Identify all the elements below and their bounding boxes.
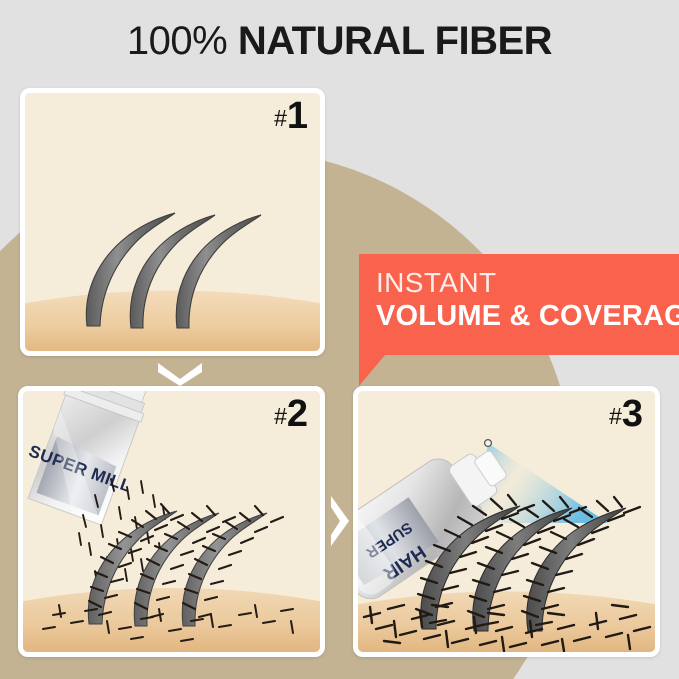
promo-banner-line-2: VOLUME & COVERAGE	[376, 299, 679, 333]
chevron-right-icon	[326, 492, 354, 550]
step-2-digit: 2	[287, 393, 308, 435]
step-2-hash: #	[274, 403, 287, 429]
page-title-prefix: 100%	[127, 19, 227, 63]
step-1-number: #1	[274, 97, 308, 135]
promo-banner: INSTANT VOLUME & COVERAGE	[359, 254, 679, 355]
promo-banner-tail	[359, 355, 385, 386]
step-3-digit: 3	[622, 393, 643, 435]
step-panel-2: SUPER MILL	[18, 386, 325, 657]
step-panel-3: SUPER HAIR	[353, 386, 660, 657]
step-1-digit: 1	[287, 95, 308, 137]
chevron-down-icon	[152, 358, 208, 386]
step-1-hash: #	[274, 105, 287, 131]
step-3-hash: #	[609, 403, 622, 429]
promo-banner-line-1: INSTANT	[376, 267, 679, 298]
nozzle-orifice	[485, 440, 492, 447]
step-3-number: #3	[609, 395, 643, 433]
page-title-main: NATURAL FIBER	[238, 19, 552, 63]
step-panel-1: #1	[20, 88, 325, 356]
infographic-stage: 100% NATURAL FIBER	[0, 0, 679, 679]
page-title: 100% NATURAL FIBER	[0, 18, 679, 64]
step-2-number: #2	[274, 395, 308, 433]
